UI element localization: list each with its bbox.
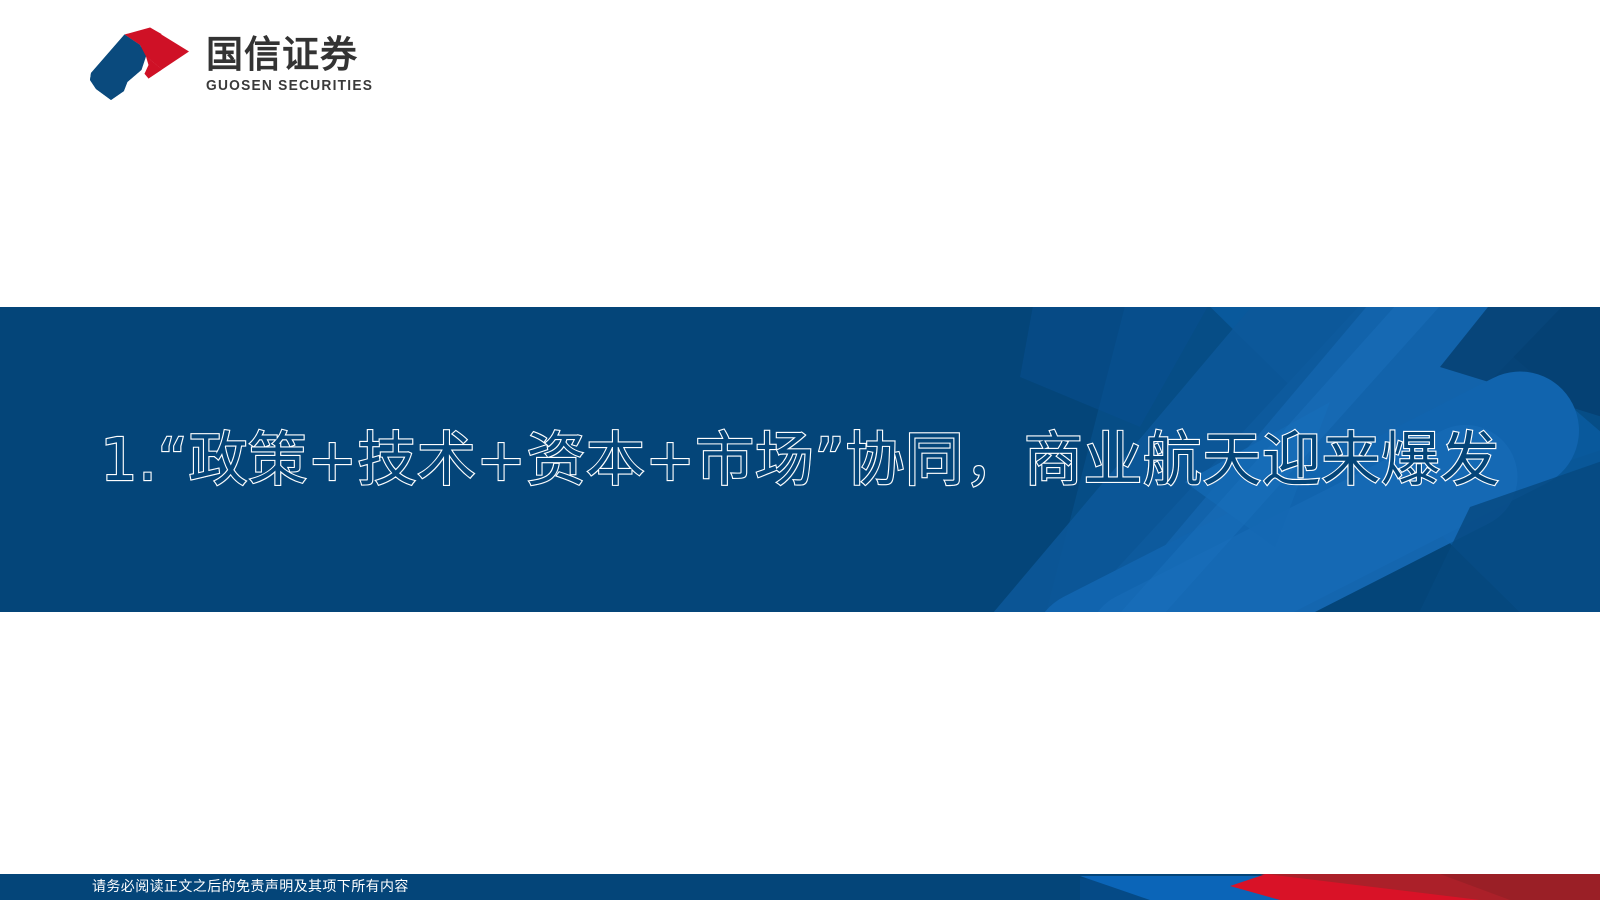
section-title-block: 1.“政策+技术+资本+市场”协同，商业航天迎来爆发 [0,307,1600,612]
footer-bar: 请务必阅读正文之后的免责声明及其项下所有内容 [0,874,1600,900]
brand-logo-text: 国信证券 GUOSEN SECURITIES [206,34,382,95]
slide-root: 国信证券 GUOSEN SECURITIES [0,0,1600,900]
brand-logo: 国信证券 GUOSEN SECURITIES [88,24,382,104]
guosen-diamond-logo-icon [88,25,192,103]
section-title: 1.“政策+技术+资本+市场”协同，商业航天迎来爆发 [100,421,1500,499]
brand-name-cn: 国信证券 [206,36,382,74]
section-divider-banner: 1.“政策+技术+资本+市场”协同，商业航天迎来爆发 [0,307,1600,612]
brand-name-en: GUOSEN SECURITIES [206,78,373,94]
footer-disclaimer: 请务必阅读正文之后的免责声明及其项下所有内容 [92,880,409,894]
footer-decorative-shapes [1080,874,1600,900]
